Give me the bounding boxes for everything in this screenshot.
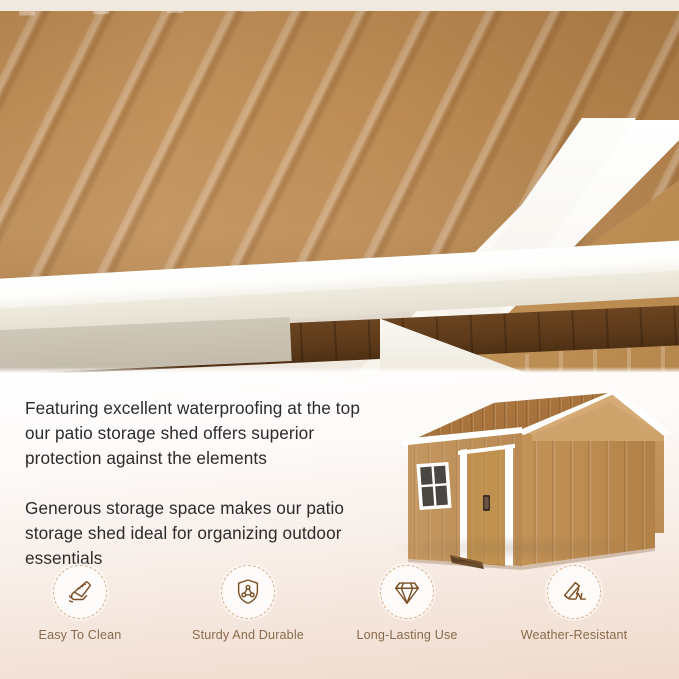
description-paragraph-2: Generous storage space makes our patio s… (25, 496, 380, 571)
diamond-gem-icon (380, 565, 434, 619)
hand-wiping-cloth-icon (53, 565, 107, 619)
feature-item-long-lasting-use: Long-Lasting Use (327, 565, 487, 642)
shed-ground-shadow (388, 535, 656, 561)
shed-product-image (372, 383, 672, 583)
feature-item-sturdy-and-durable: Sturdy And Durable (168, 565, 328, 642)
description-panel: Featuring excellent waterproofing at the… (0, 373, 679, 679)
product-feature-image: Featuring excellent waterproofing at the… (0, 0, 679, 679)
photo-top-edge (0, 0, 679, 11)
feature-item-easy-to-clean: Easy To Clean (0, 565, 160, 642)
stacked-planks-icon (547, 565, 601, 619)
feature-label: Long-Lasting Use (327, 628, 487, 642)
shield-molecule-icon (221, 565, 275, 619)
feature-list: Easy To Clean Sturdy And Durable (0, 565, 679, 661)
feature-label: Easy To Clean (0, 628, 160, 642)
feature-label: Sturdy And Durable (168, 628, 328, 642)
feature-label: Weather-Resistant (494, 628, 654, 642)
description-copy: Featuring excellent waterproofing at the… (25, 396, 380, 571)
roof-closeup-photo (0, 0, 679, 373)
feature-item-weather-resistant: Weather-Resistant (494, 565, 654, 642)
description-paragraph-1: Featuring excellent waterproofing at the… (25, 396, 380, 471)
